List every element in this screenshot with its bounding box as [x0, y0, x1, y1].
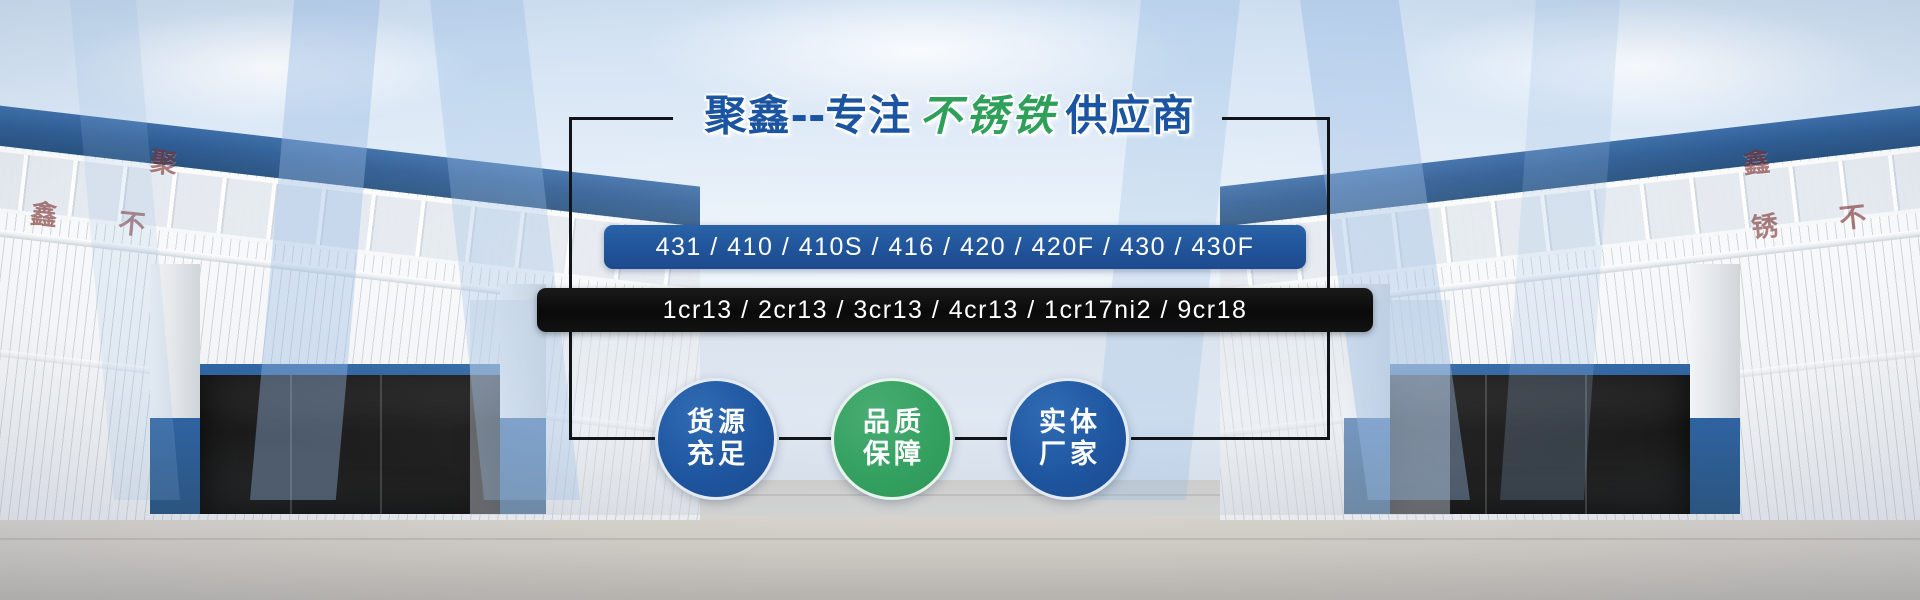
steel-grade-pill-secondary-label: 1cr13 / 2cr13 / 3cr13 / 4cr13 / 1cr17ni2… [663, 296, 1248, 325]
feature-badge-quality: 品质 保障 [831, 378, 953, 500]
feature-badge-supply: 货源 充足 [655, 378, 777, 500]
banner-headline: 聚鑫 -- 专注 不锈铁 供应商 [569, 84, 1330, 148]
feature-badge-factory-line1: 实体 [1035, 407, 1101, 439]
feature-badge-supply-line1: 货源 [683, 407, 749, 439]
feature-badge-supply-line2: 充足 [683, 439, 749, 471]
feature-badge-quality-line2: 保障 [859, 439, 925, 471]
steel-grade-pill-primary: 431 / 410 / 410S / 416 / 420 / 420F / 43… [604, 225, 1306, 269]
steel-grade-pill-secondary: 1cr13 / 2cr13 / 3cr13 / 4cr13 / 1cr17ni2… [537, 288, 1373, 332]
headline-segment-product: 不锈铁 [911, 95, 1065, 137]
headline-dashes: -- [791, 95, 826, 137]
feature-badge-factory: 实体 厂家 [1007, 378, 1129, 500]
feature-badge-quality-line1: 品质 [859, 407, 925, 439]
headline-segment-supplier: 供应商 [1065, 95, 1194, 137]
steel-grade-pill-primary-label: 431 / 410 / 410S / 416 / 420 / 420F / 43… [656, 233, 1255, 262]
headline-segment-company: 聚鑫 [705, 95, 791, 137]
headline-segment-focus: 专注 [825, 95, 911, 137]
promotional-banner: 聚 鑫 不 鑫 锈 不 [0, 0, 1920, 600]
feature-badge-factory-line2: 厂家 [1035, 439, 1101, 471]
feature-badge-group: 货源 充足 品质 保障 实体 厂家 [569, 378, 1330, 502]
banner-content: 聚鑫 -- 专注 不锈铁 供应商 431 / 410 / 410S / 416 … [0, 0, 1920, 600]
